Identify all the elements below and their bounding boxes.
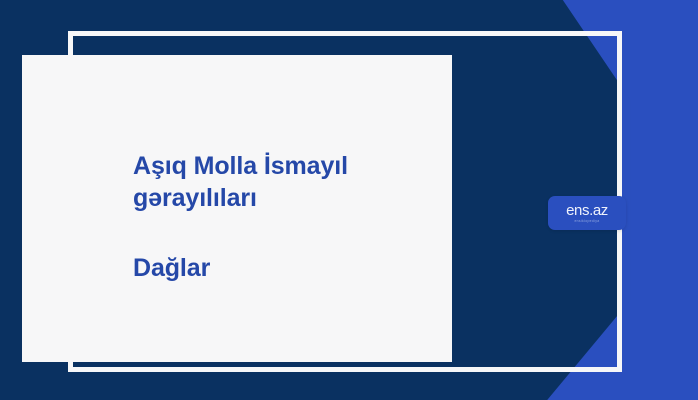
text-block: Aşıq Molla İsmayıl gərayılıları Dağlar xyxy=(133,150,433,284)
brand-logo-badge[interactable]: ens.az ensiklopediya xyxy=(548,196,626,230)
page-subtitle: Dağlar xyxy=(133,214,433,284)
brand-tagline: ensiklopediya xyxy=(574,220,599,223)
page-title-line-1: Aşıq Molla İsmayıl xyxy=(133,150,433,182)
slide-canvas: Aşıq Molla İsmayıl gərayılıları Dağlar e… xyxy=(0,0,698,400)
page-title-line-2: gərayılıları xyxy=(133,182,433,214)
brand-wordmark: ens.az xyxy=(566,203,608,218)
